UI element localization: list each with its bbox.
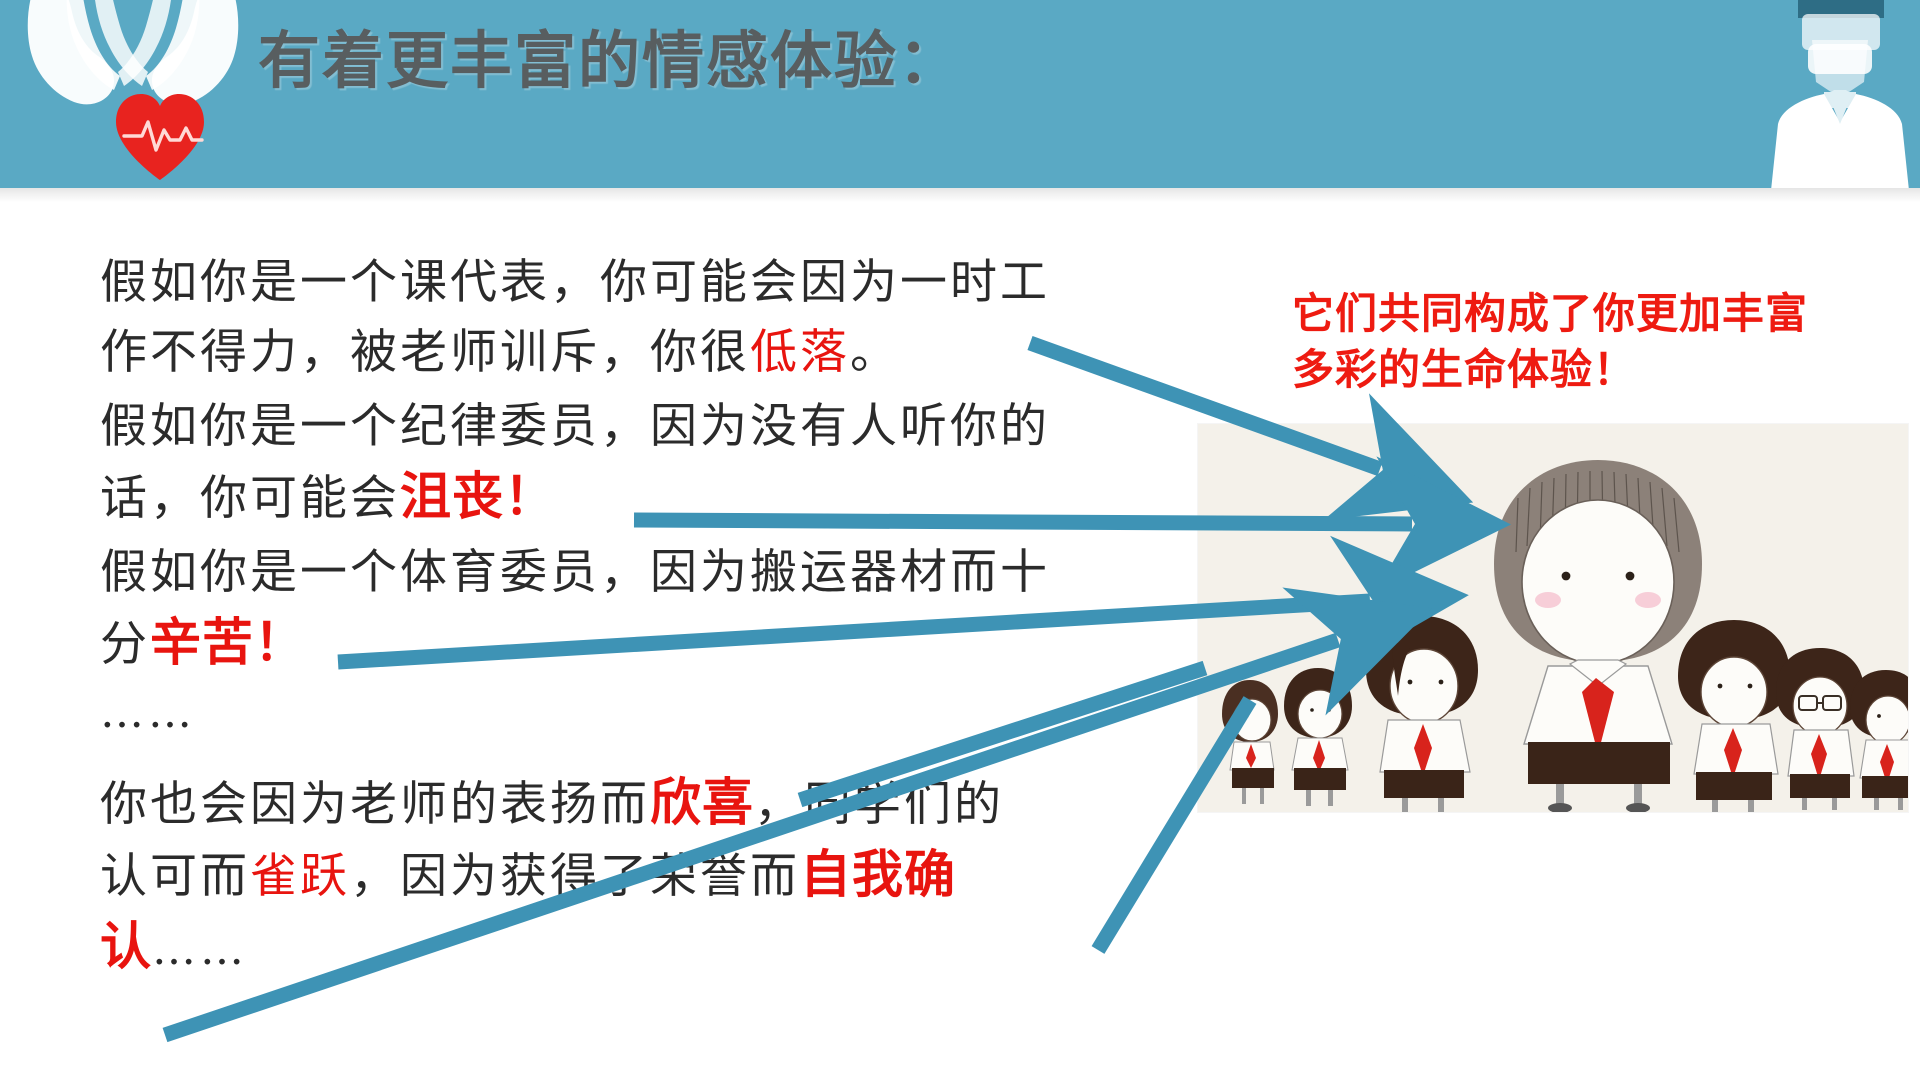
ellipsis-1: …… xyxy=(100,680,1190,746)
header-band: 有着更丰富的情感体验： xyxy=(0,0,1920,188)
p1-l2-suffix: 。 xyxy=(850,325,900,380)
page-title: 有着更丰富的情感体验： xyxy=(258,28,962,96)
p2-highlight-jusang: 沮丧！ xyxy=(400,467,556,527)
paragraph-4: 你也会因为老师的表扬而欣喜，同学们的 认可而雀跃，因为获得了荣誉而自我确 认…… xyxy=(100,768,1190,984)
p1-highlight-dilou: 低落 xyxy=(750,325,850,380)
paragraph-4-line-1: 你也会因为老师的表扬而欣喜，同学们的 xyxy=(100,768,1190,840)
right-callout-line-2: 多彩的生命体验！ xyxy=(1292,342,1892,398)
p4-highlight-ziwoqueren-a: 自我确 xyxy=(800,845,956,905)
paragraph-1: 假如你是一个课代表，你可能会因为一时工 作不得力，被老师训斥，你很低落。 xyxy=(100,248,1190,388)
paragraph-2-line-1: 假如你是一个纪律委员，因为没有人听你的 xyxy=(100,392,1190,462)
right-callout-line-1: 它们共同构成了你更加丰富 xyxy=(1292,286,1892,342)
slide-canvas: 有着更丰富的情感体验： 假如你是一个课代表，你可能会因为一时工 作不得力，被老师… xyxy=(0,0,1920,1080)
heart-ecg-icon xyxy=(110,88,210,184)
body-text-block: 假如你是一个课代表，你可能会因为一时工 作不得力，被老师训斥，你很低落。 假如你… xyxy=(100,248,1190,984)
p4-highlight-xinxi: 欣喜 xyxy=(650,773,754,833)
paragraph-2: 假如你是一个纪律委员，因为没有人听你的 话，你可能会沮丧！ xyxy=(100,392,1190,534)
paragraph-3-line-1: 假如你是一个体育委员，因为搬运器材而十 xyxy=(100,538,1190,608)
p4-l2-prefix: 认可而 xyxy=(100,849,250,904)
p4-highlight-ziwoqueren-b: 认 xyxy=(100,917,152,977)
paragraph-1-line-1: 假如你是一个课代表，你可能会因为一时工 xyxy=(100,248,1190,318)
ellipsis-2: …… xyxy=(152,924,248,975)
paragraph-4-line-2: 认可而雀跃，因为获得了荣誉而自我确 xyxy=(100,840,1190,912)
students-illustration xyxy=(1198,424,1908,812)
paragraph-4-line-3: 认…… xyxy=(100,912,1190,984)
paragraph-1-line-2: 作不得力，被老师训斥，你很低落。 xyxy=(100,318,1190,388)
p4-l1-prefix: 你也会因为老师的表扬而 xyxy=(100,777,650,832)
header-shadow xyxy=(0,188,1920,202)
p3-highlight-xinku: 辛苦！ xyxy=(150,613,306,673)
paragraph-spacer xyxy=(100,746,1190,768)
paragraph-2-line-2: 话，你可能会沮丧！ xyxy=(100,462,1190,534)
p4-highlight-queyue: 雀跃 xyxy=(250,849,350,904)
doctor-silhouette-icon xyxy=(1750,0,1920,188)
p4-l2-mid: ，因为获得了荣誉而 xyxy=(350,849,800,904)
p4-l1-suffix: ，同学们的 xyxy=(754,777,1004,832)
p2-l2-prefix: 话，你可能会 xyxy=(100,471,400,526)
right-callout: 它们共同构成了你更加丰富 多彩的生命体验！ xyxy=(1292,286,1892,398)
paragraph-3: 假如你是一个体育委员，因为搬运器材而十 分辛苦！ xyxy=(100,538,1190,680)
students-photo xyxy=(1198,424,1908,812)
p3-l2-prefix: 分 xyxy=(100,617,150,672)
paragraph-3-line-2: 分辛苦！ xyxy=(100,608,1190,680)
p1-l2-prefix: 作不得力，被老师训斥，你很 xyxy=(100,325,750,380)
